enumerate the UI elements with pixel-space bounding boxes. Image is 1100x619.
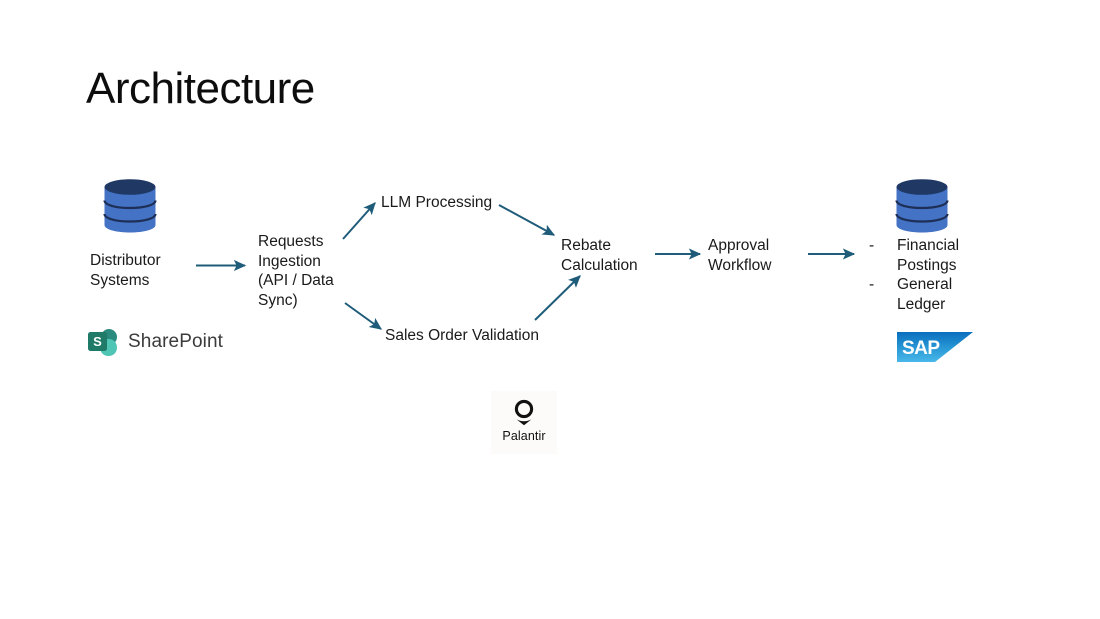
bullet-dash: -: [869, 275, 897, 295]
node-label-llm-processing: LLM Processing: [381, 193, 541, 213]
node-label-sales-order-validation: Sales Order Validation: [385, 326, 595, 346]
sharepoint-logo: S SharePoint: [88, 327, 223, 357]
node-label-rebate-calculation: Rebate Calculation: [561, 236, 671, 275]
arrow-sales-order-to-rebate: [535, 276, 580, 320]
bullet-dash: -: [869, 236, 897, 256]
list-item: - General Ledger: [869, 275, 1019, 314]
sharepoint-wordmark: SharePoint: [128, 331, 223, 353]
outputs-bullet-list: - Financial Postings - General Ledger: [869, 236, 1019, 314]
sap-wordmark: SAP: [902, 338, 940, 359]
list-item: - Financial Postings: [869, 236, 1019, 275]
database-icon-distributor: [103, 178, 157, 234]
palantir-icon: [509, 398, 539, 428]
node-label-distributor: Distributor Systems: [90, 251, 200, 290]
node-label-approval-workflow: Approval Workflow: [708, 236, 818, 275]
palantir-logo-card: Palantir: [491, 391, 557, 454]
sharepoint-icon: S: [88, 327, 119, 357]
sharepoint-square: S: [88, 332, 107, 351]
slide-canvas: Architecture Distributor Systems: [0, 0, 1100, 619]
node-label-requests-ingestion: Requests Ingestion (API / Data Sync): [258, 232, 354, 310]
page-title: Architecture: [86, 64, 315, 114]
list-item-label: General Ledger: [897, 275, 1019, 314]
sap-logo: SAP: [897, 332, 973, 362]
list-item-label: Financial Postings: [897, 236, 1019, 275]
sharepoint-mark-letter: S: [93, 335, 102, 348]
palantir-wordmark: Palantir: [502, 429, 545, 443]
database-icon-outputs: [895, 178, 949, 234]
